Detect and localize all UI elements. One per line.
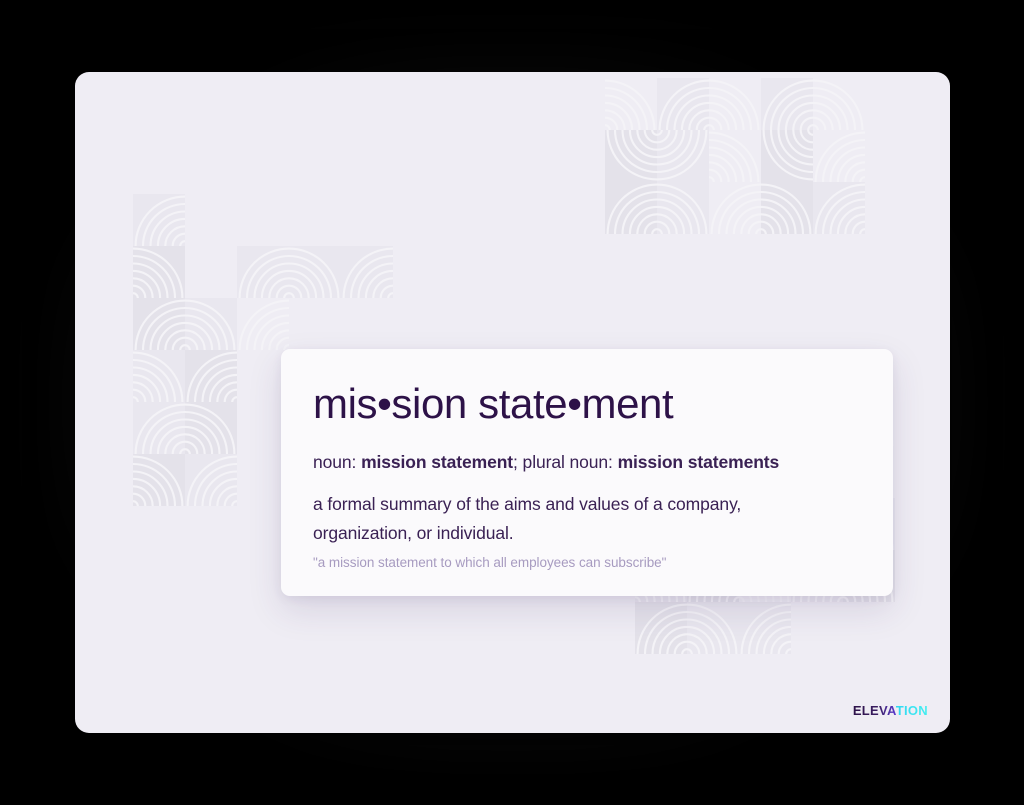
- slide-canvas: mis•sion state•ment noun: mission statem…: [75, 72, 950, 733]
- pattern-tile: [133, 402, 185, 454]
- pattern-tile: [761, 182, 813, 234]
- page-title: mis•sion state•ment: [313, 379, 865, 429]
- pattern-tile: [133, 454, 185, 506]
- decorative-pattern-top-right: [605, 78, 865, 234]
- pattern-tile: [657, 78, 709, 130]
- pattern-tile: [761, 130, 813, 182]
- pattern-tile: [709, 182, 761, 234]
- pattern-tile: [237, 246, 289, 298]
- pattern-tile: [813, 130, 865, 182]
- pattern-tile: [133, 194, 185, 246]
- pattern-tile: [687, 602, 739, 654]
- pattern-tile: [605, 182, 657, 234]
- pattern-tile: [635, 602, 687, 654]
- pattern-tile: [709, 130, 761, 182]
- pattern-tile: [289, 246, 341, 298]
- pattern-tile: [237, 298, 289, 350]
- pos-plural-term: mission statements: [618, 452, 780, 472]
- pattern-tile: [341, 246, 393, 298]
- part-of-speech-line: noun: mission statement; plural noun: mi…: [313, 451, 865, 474]
- pos-noun-label: noun:: [313, 452, 361, 472]
- pattern-tile: [133, 298, 185, 350]
- pos-singular-term: mission statement: [361, 452, 513, 472]
- pattern-tile: [133, 350, 185, 402]
- pattern-tile: [133, 246, 185, 298]
- brand-logo: ELEVATION: [853, 704, 928, 717]
- pattern-tile: [709, 78, 761, 130]
- pattern-tile: [605, 130, 657, 182]
- pattern-tile: [185, 402, 237, 454]
- definition-card: mis•sion state•ment noun: mission statem…: [281, 349, 893, 596]
- brand-logo-segment-cyan: TION: [896, 703, 928, 718]
- pattern-tile: [185, 350, 237, 402]
- pattern-tile: [813, 78, 865, 130]
- example-usage-text: "a mission statement to which all employ…: [313, 553, 865, 573]
- pos-plural-label: ; plural noun:: [513, 452, 618, 472]
- brand-logo-segment-dark: ELEVA: [853, 703, 896, 718]
- pattern-tile: [185, 454, 237, 506]
- definition-text: a formal summary of the aims and values …: [313, 490, 783, 547]
- pattern-tile: [605, 78, 657, 130]
- pattern-tile: [185, 298, 237, 350]
- pattern-tile: [739, 602, 791, 654]
- pattern-tile: [761, 78, 813, 130]
- pattern-tile: [813, 182, 865, 234]
- screenshot-root: mis•sion state•ment noun: mission statem…: [0, 0, 1024, 805]
- definition-card-content: mis•sion state•ment noun: mission statem…: [313, 379, 865, 573]
- pattern-tile: [657, 182, 709, 234]
- pattern-tile: [657, 130, 709, 182]
